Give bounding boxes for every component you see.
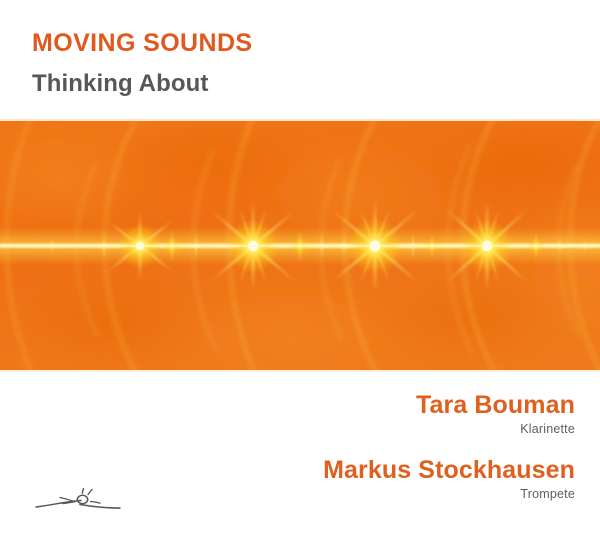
sun-over-horizon-sketch-icon [34,470,134,520]
album-subtitle: Thinking About [32,71,552,96]
performer-instrument: Trompete [155,487,575,501]
logo-graphic [34,470,134,520]
performer-name: Tara Bouman [155,392,575,419]
cover-artwork [0,119,600,372]
album-cover: MOVING SOUNDS Thinking About [0,0,600,534]
performer-instrument: Klarinette [155,422,575,436]
artwork-bottom-divider [0,370,600,372]
cover-header: MOVING SOUNDS Thinking About [32,30,552,96]
artwork-top-divider [0,119,600,121]
artwork-hairline [0,245,600,246]
performer-entry-1: Tara Bouman Klarinette [155,392,575,436]
artwork-graphic [0,119,600,372]
performer-name: Markus Stockhausen [155,457,575,484]
performer-credits: Tara Bouman Klarinette Markus Stockhause… [155,392,575,501]
album-title: MOVING SOUNDS [32,30,552,56]
performer-entry-2: Markus Stockhausen Trompete [155,457,575,501]
